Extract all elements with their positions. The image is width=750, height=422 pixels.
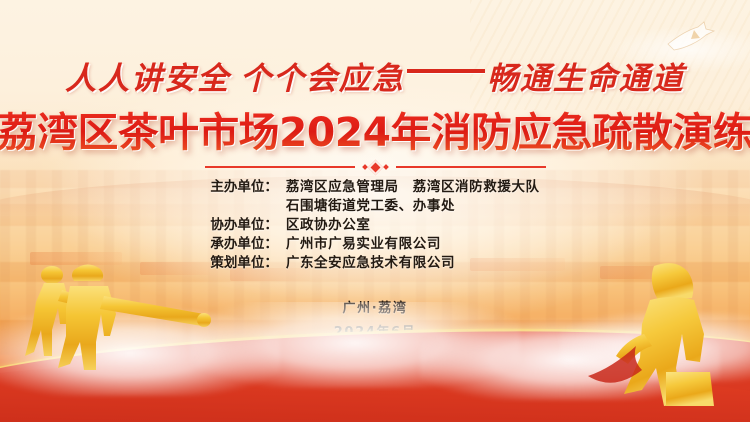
organizer-label: 策划单位： (210, 254, 286, 273)
slogan-part-1: 人人讲安全 个个会应急 (65, 53, 405, 98)
organizer-value: 区政协办公室 (286, 216, 540, 235)
diamond-ornament-icon (363, 162, 388, 173)
organizer-row: 承办单位： 广州市广易实业有限公司 (210, 235, 539, 254)
organizer-value: 荔湾区应急管理局 荔湾区消防救援大队 (286, 178, 540, 197)
organizer-label: 协办单位： (210, 216, 286, 235)
place-date-block: 广州·荔湾 2024年6月 (0, 297, 750, 340)
band-red-layer-2 (0, 353, 750, 422)
place-text: 广州·荔湾 (343, 297, 408, 316)
poster-title: 荔湾区茶叶市场2024年消防应急疏散演练 (0, 103, 750, 155)
organizer-label (210, 197, 286, 216)
divider-dot (383, 164, 389, 170)
divider-line-right (396, 166, 546, 168)
organizer-label: 主办单位： (210, 178, 286, 197)
date-text: 2024年6月 (334, 321, 416, 340)
organizer-row: 主办单位： 荔湾区应急管理局 荔湾区消防救援大队 (210, 178, 539, 197)
organizer-label: 承办单位： (210, 235, 286, 254)
organizer-value: 石围塘街道党工委、办事处 (286, 197, 540, 216)
organizer-value: 广东全安应急技术有限公司 (286, 254, 540, 273)
slogan-part-2: 畅通生命通道 (487, 53, 685, 98)
organizers-table: 主办单位： 荔湾区应急管理局 荔湾区消防救援大队 石围塘街道党工委、办事处 协办… (210, 178, 539, 273)
decorative-divider (0, 160, 750, 174)
organizers-block: 主办单位： 荔湾区应急管理局 荔湾区消防救援大队 石围塘街道党工委、办事处 协办… (0, 178, 750, 273)
divider-line-left (205, 166, 355, 168)
poster-canvas: 人人讲安全 个个会应急畅通生命通道 荔湾区茶叶市场2024年消防应急疏散演练 主… (0, 0, 750, 422)
organizer-value: 广州市广易实业有限公司 (286, 235, 540, 254)
slogan-dash (407, 69, 485, 73)
organizer-row: 石围塘街道党工委、办事处 (210, 197, 539, 216)
poster-slogan: 人人讲安全 个个会应急畅通生命通道 (0, 52, 750, 98)
organizer-row: 策划单位： 广东全安应急技术有限公司 (210, 254, 539, 273)
organizer-row: 协办单位： 区政协办公室 (210, 216, 539, 235)
divider-diamond (367, 159, 383, 175)
